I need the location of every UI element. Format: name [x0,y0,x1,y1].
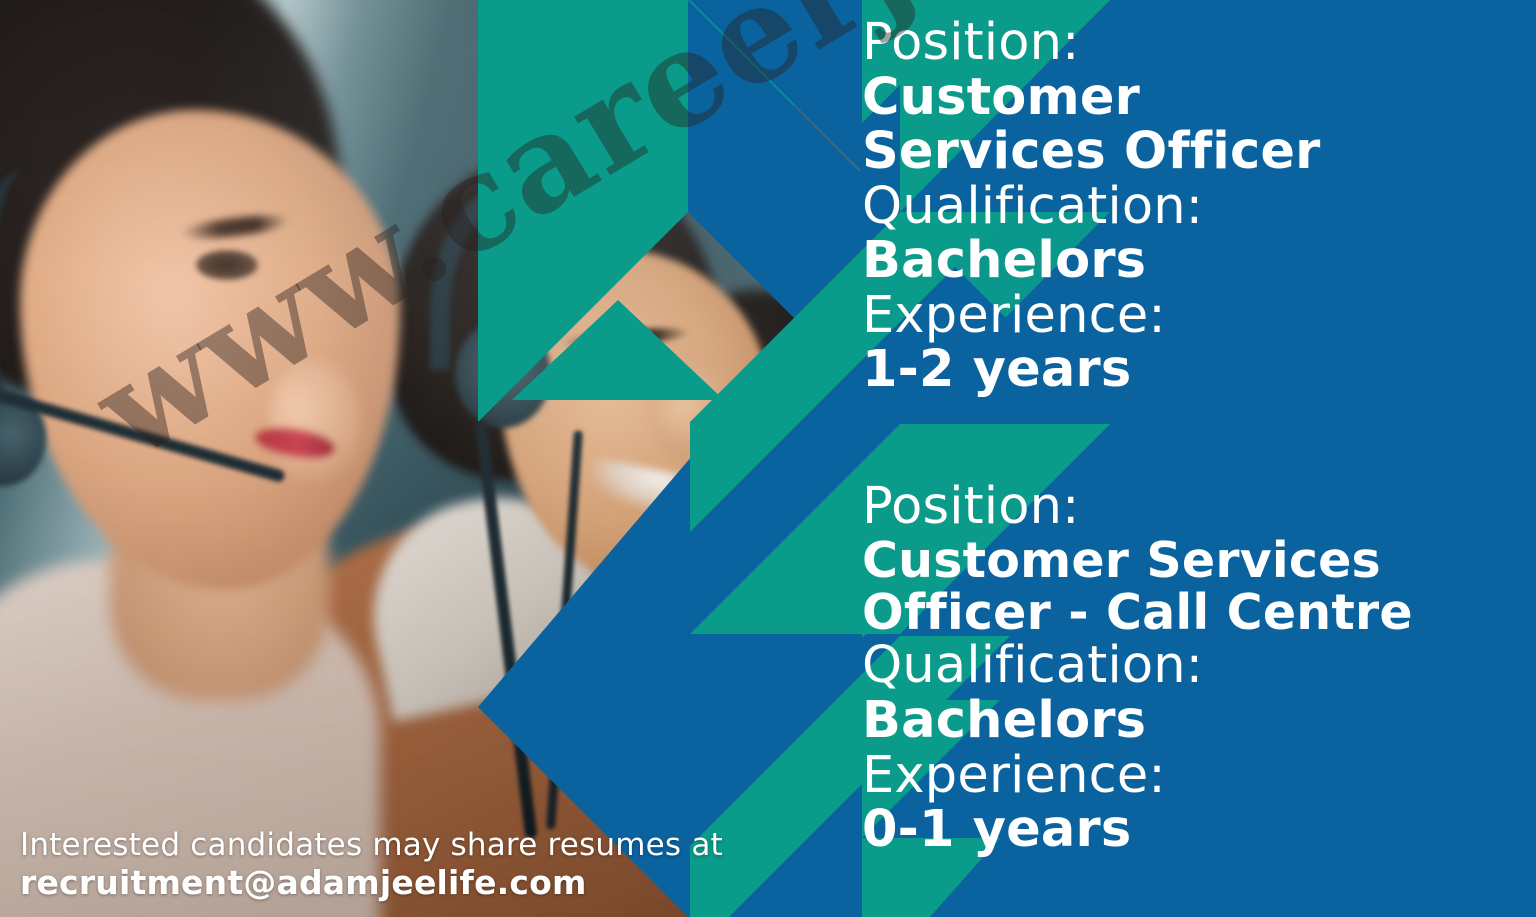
job2-position-value-line-1: Customer Services [862,535,1536,587]
job1-qualification-label: Qualification: [862,180,1536,235]
job2-qualification-label: Qualification: [862,639,1536,694]
job-listing-2: Position: Customer Services Officer - Ca… [862,480,1536,858]
contact-instruction: Interested candidates may share resumes … [20,827,740,864]
job2-experience-value: 0-1 years [862,803,1536,858]
job2-qualification-value: Bachelors [862,694,1536,749]
job1-experience-value: 1-2 years [862,343,1536,398]
job2-position-label: Position: [862,480,1536,535]
contact-email[interactable]: recruitment@adamjeelife.com [20,864,740,903]
job-advertisement-poster: Position: Customer Services Officer Qual… [0,0,1536,917]
contact-block: Interested candidates may share resumes … [20,827,740,903]
job2-position-value-line-2: Officer - Call Centre [862,587,1536,639]
job1-qualification-value: Bachelors [862,234,1536,289]
job1-position-value-line-2: Services Officer [862,125,1536,180]
job2-experience-label: Experience: [862,749,1536,804]
job-listings-column: Position: Customer Services Officer Qual… [862,0,1536,917]
job1-position-label: Position: [862,16,1536,71]
job1-experience-label: Experience: [862,289,1536,344]
job-listing-1: Position: Customer Services Officer Qual… [862,16,1536,398]
job1-position-value-line-1: Customer [862,71,1536,126]
